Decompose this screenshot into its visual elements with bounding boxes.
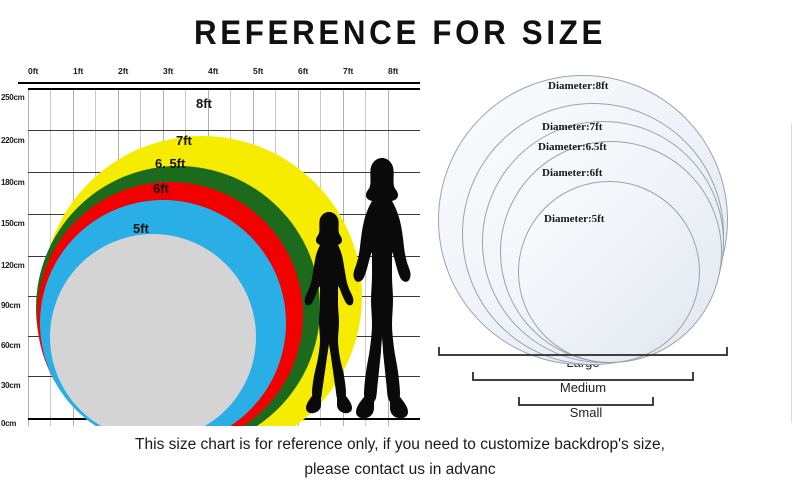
x-tick-6ft: 6ft [298, 66, 308, 76]
x-axis-rule [18, 82, 420, 84]
disc-5ft [518, 181, 700, 363]
bracket-large [438, 347, 728, 356]
x-tick-7ft: 7ft [343, 66, 353, 76]
disc-label-8ft: Diameter:8ft [548, 80, 608, 92]
y-tick-250cm: 250cm [1, 93, 24, 102]
y-tick-30cm: 30cm [1, 381, 20, 390]
x-tick-4ft: 4ft [208, 66, 218, 76]
adult-silhouette [353, 156, 411, 421]
h-gridline-250cm [28, 88, 420, 90]
y-tick-60cm: 60cm [1, 341, 20, 350]
bracket-label-medium: Medium [472, 380, 694, 395]
child-silhouette [304, 210, 354, 420]
ring-label-5ft: 5ft [133, 221, 149, 236]
ring-label-6-5ft: 6. 5ft [155, 156, 185, 171]
ring-label-6ft: 6ft [153, 181, 169, 196]
y-tick-150cm: 150cm [1, 219, 24, 228]
x-tick-1ft: 1ft [73, 66, 83, 76]
x-tick-0ft: 0ft [28, 66, 38, 76]
page-title: REFERENCE FOR SIZE [32, 14, 768, 53]
grid-area: 8ft 7ft 6. 5ft 6ft 5ft [28, 88, 420, 426]
bracket-label-small: Small [518, 405, 654, 420]
ring-5ft [50, 234, 256, 426]
x-tick-5ft: 5ft [253, 66, 263, 76]
y-tick-220cm: 220cm [1, 136, 24, 145]
h-gridline-220cm [28, 130, 420, 131]
disc-label-6-5ft: Diameter:6.5ft [538, 141, 607, 153]
disc-label-6ft: Diameter:6ft [542, 167, 602, 179]
caption-line-2: please contact us in advanc [0, 457, 800, 482]
y-tick-180cm: 180cm [1, 178, 24, 187]
y-tick-0cm: 0cm [1, 419, 16, 428]
disclaimer-caption: This size chart is for reference only, i… [0, 432, 800, 482]
x-tick-2ft: 2ft [118, 66, 128, 76]
disc-label-7ft: Diameter:7ft [542, 121, 602, 133]
x-tick-3ft: 3ft [163, 66, 173, 76]
caption-line-1: This size chart is for reference only, i… [0, 432, 800, 457]
height-comparison-panel: 0ft 1ft 2ft 3ft 4ft 5ft 6ft 7ft 8ft 250c… [0, 60, 430, 430]
bracket-medium [472, 372, 694, 381]
y-tick-90cm: 90cm [1, 301, 20, 310]
x-tick-8ft: 8ft [388, 66, 398, 76]
diameter-comparison-panel: Diameter:8ft Diameter:7ft Diameter:6.5ft… [430, 55, 800, 430]
size-reference-chart: REFERENCE FOR SIZE 0ft 1ft 2ft 3ft 4ft 5… [0, 0, 800, 488]
disc-label-5ft: Diameter:5ft [544, 213, 604, 225]
panel-divider [791, 123, 792, 423]
ring-label-7ft: 7ft [176, 133, 192, 148]
bracket-small [518, 397, 654, 406]
ring-label-8ft: 8ft [196, 96, 212, 111]
y-tick-120cm: 120cm [1, 261, 24, 270]
